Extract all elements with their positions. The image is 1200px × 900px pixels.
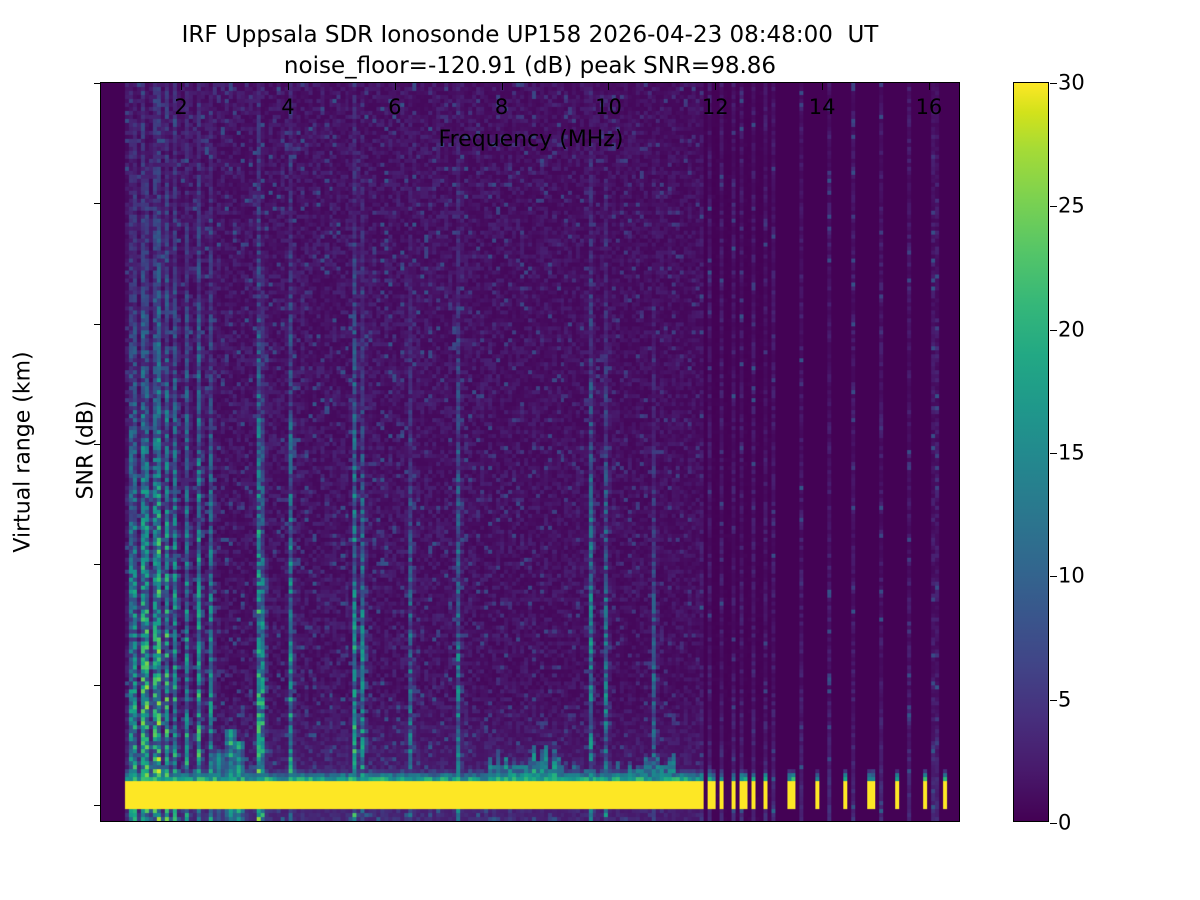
x-tick-mark bbox=[288, 83, 289, 90]
colorbar-tick-label: 25 bbox=[1058, 196, 1085, 217]
colorbar-tick-mark bbox=[1050, 700, 1057, 701]
x-tick-mark bbox=[395, 83, 396, 90]
colorbar-tick-mark bbox=[1050, 206, 1057, 207]
ionogram-heatmap bbox=[101, 83, 959, 821]
x-tick-mark bbox=[502, 83, 503, 90]
page-title: IRF Uppsala SDR Ionosonde UP158 2026-04-… bbox=[0, 20, 1060, 82]
colorbar-tick-label: 20 bbox=[1058, 319, 1085, 340]
x-axis-label: Frequency (MHz) bbox=[101, 127, 961, 152]
colorbar-tick-label: 10 bbox=[1058, 566, 1085, 587]
colorbar-tick-label: 15 bbox=[1058, 443, 1085, 464]
colorbar: 051015202530 bbox=[1013, 82, 1049, 822]
colorbar-tick-mark bbox=[1050, 83, 1057, 84]
x-tick-label: 2 bbox=[174, 97, 187, 118]
colorbar-label: SNR (dB) bbox=[74, 300, 99, 600]
y-tick-mark bbox=[94, 685, 101, 686]
colorbar-tick-label: 0 bbox=[1058, 813, 1071, 834]
y-tick-mark bbox=[94, 805, 101, 806]
x-tick-mark bbox=[181, 83, 182, 90]
x-tick-label: 14 bbox=[809, 97, 836, 118]
x-tick-label: 8 bbox=[495, 97, 508, 118]
y-axis-label: Virtual range (km) bbox=[11, 302, 36, 602]
ionogram-figure: IRF Uppsala SDR Ionosonde UP158 2026-04-… bbox=[0, 0, 1200, 900]
x-tick-label: 10 bbox=[595, 97, 622, 118]
x-tick-mark bbox=[608, 83, 609, 90]
colorbar-tick-label: 5 bbox=[1058, 689, 1071, 710]
colorbar-tick-mark bbox=[1050, 330, 1057, 331]
x-tick-label: 4 bbox=[281, 97, 294, 118]
x-tick-label: 6 bbox=[388, 97, 401, 118]
colorbar-tick-mark bbox=[1050, 453, 1057, 454]
x-tick-mark bbox=[929, 83, 930, 90]
x-tick-label: 16 bbox=[916, 97, 943, 118]
x-tick-label: 12 bbox=[702, 97, 729, 118]
colorbar-tick-label: 30 bbox=[1058, 73, 1085, 94]
colorbar-tick-mark bbox=[1050, 823, 1057, 824]
y-tick-mark bbox=[94, 203, 101, 204]
x-tick-mark bbox=[822, 83, 823, 90]
colorbar-tick-mark bbox=[1050, 576, 1057, 577]
title-line-2: noise_floor=-120.91 (dB) peak SNR=98.86 bbox=[0, 51, 1060, 82]
title-line-1: IRF Uppsala SDR Ionosonde UP158 2026-04-… bbox=[0, 20, 1060, 51]
y-tick-mark bbox=[94, 83, 101, 84]
plot-area: Virtual range (km) Frequency (MHz) 01002… bbox=[100, 82, 960, 822]
x-tick-mark bbox=[715, 83, 716, 90]
